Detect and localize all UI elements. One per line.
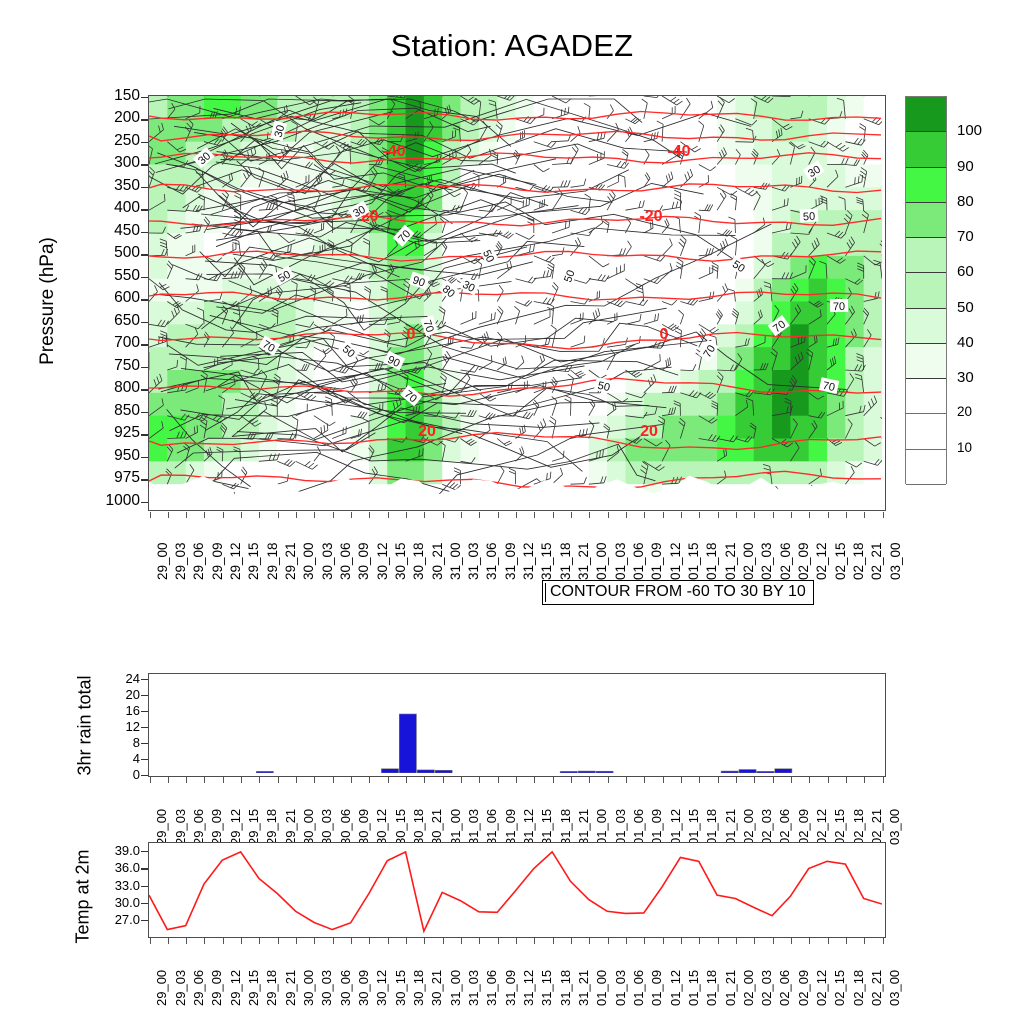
time-tick-mark <box>663 938 664 944</box>
time-tick-mark <box>791 777 792 783</box>
temp-plot-frame <box>148 842 886 938</box>
screenshot-root: Station: AGADEZ Pressure (hPa) 150200250… <box>0 0 1024 1024</box>
colorbar-cell <box>906 97 946 132</box>
time-tick-mark <box>424 938 425 944</box>
time-tick-label: 29_15 <box>246 970 261 1006</box>
pressure-tick-label: 925 <box>70 424 140 442</box>
time-tick-label: 02_00 <box>741 970 756 1006</box>
colorbar-tick-label: 70 <box>957 228 974 245</box>
time-tick-mark <box>754 938 755 944</box>
time-tick-label: 30_18 <box>411 542 426 580</box>
time-tick-label: 01_09 <box>649 970 664 1006</box>
time-tick-mark <box>186 512 187 518</box>
time-tick-mark <box>626 777 627 783</box>
pressure-tick-mark <box>141 479 148 480</box>
time-tick-mark <box>589 512 590 518</box>
time-tick-label: 29_21 <box>283 970 298 1006</box>
pressure-tick-mark <box>141 119 148 120</box>
time-tick-label: 31_03 <box>466 970 481 1006</box>
temp-tick-label: 36.0 <box>85 860 140 875</box>
time-tick-mark <box>498 512 499 518</box>
rain-bar-chart <box>149 674 882 773</box>
rain-tick-label: 24 <box>95 671 140 686</box>
colorbar-cells <box>905 96 947 484</box>
pressure-tick-label: 150 <box>70 87 140 105</box>
time-tick-mark <box>534 938 535 944</box>
time-tick-mark <box>516 512 517 518</box>
temp-contour-label: 0 <box>407 326 416 343</box>
pressure-tick-label: 350 <box>70 177 140 195</box>
temp-contour-label: 20 <box>418 423 436 440</box>
time-tick-label: 02_00 <box>741 542 756 580</box>
pressure-tick-mark <box>141 209 148 210</box>
temp-tick-mark <box>141 886 148 887</box>
time-tick-label: 29_03 <box>173 542 188 580</box>
time-tick-label: 01_00 <box>594 970 609 1006</box>
time-tick-mark <box>186 938 187 944</box>
time-tick-mark <box>424 512 425 518</box>
time-tick-label: 02_15 <box>832 970 847 1006</box>
time-tick-label: 31_12 <box>521 970 536 1006</box>
rain-panel: 3hr rain total 04812162024 29_0029_0329_… <box>0 655 1024 835</box>
time-tick-label: 30_15 <box>393 542 408 580</box>
svg-text:70: 70 <box>833 301 845 313</box>
cross-section-plot: -40-40-20-200020203030303050505050709080… <box>149 96 882 507</box>
time-tick-mark <box>204 777 205 783</box>
temp-contour-label: -40 <box>667 143 690 160</box>
time-tick-mark <box>754 777 755 783</box>
pressure-tick-mark <box>141 322 148 323</box>
time-tick-mark <box>589 938 590 944</box>
time-tick-mark <box>699 777 700 783</box>
time-tick-mark <box>204 512 205 518</box>
colorbar-cell <box>906 450 946 485</box>
rain-bar <box>721 771 738 773</box>
time-tick-label: 02_03 <box>759 970 774 1006</box>
time-tick-mark <box>864 777 865 783</box>
time-tick-mark <box>553 777 554 783</box>
time-tick-mark <box>883 512 884 518</box>
time-tick-mark <box>314 777 315 783</box>
time-tick-mark <box>864 938 865 944</box>
time-tick-mark <box>278 938 279 944</box>
time-tick-mark <box>351 938 352 944</box>
time-tick-mark <box>883 938 884 944</box>
time-tick-label: 31_15 <box>539 970 554 1006</box>
temp-time-tick-labels: 29_0029_0329_0629_0929_1229_1529_1829_21… <box>148 942 884 1002</box>
rain-tick-label: 16 <box>95 703 140 718</box>
time-tick-mark <box>259 938 260 944</box>
pressure-tick-label: 250 <box>70 132 140 150</box>
time-tick-label: 30_06 <box>338 970 353 1006</box>
time-tick-label: 31_09 <box>503 970 518 1006</box>
colorbar-cell <box>906 379 946 414</box>
colorbar-cell <box>906 203 946 238</box>
time-tick-label: 30_00 <box>301 970 316 1006</box>
time-tick-mark <box>388 938 389 944</box>
colorbar-cell <box>906 273 946 308</box>
time-tick-mark <box>828 777 829 783</box>
time-tick-mark <box>168 512 169 518</box>
time-tick-mark <box>736 777 737 783</box>
pressure-tick-mark <box>141 457 148 458</box>
time-tick-mark <box>773 512 774 518</box>
rain-bar <box>775 769 792 773</box>
time-tick-label: 31_06 <box>484 970 499 1006</box>
pressure-tick-label: 975 <box>70 469 140 487</box>
rain-bar <box>596 771 613 773</box>
time-tick-mark <box>296 777 297 783</box>
rain-tick-mark <box>141 759 148 760</box>
time-tick-label: 30_09 <box>356 542 371 580</box>
time-tick-mark <box>626 938 627 944</box>
colorbar-cell <box>906 414 946 449</box>
temp-tick-label: 39.0 <box>85 843 140 858</box>
time-tick-mark <box>791 512 792 518</box>
temp-tick-mark <box>141 903 148 904</box>
svg-text:70: 70 <box>822 380 836 394</box>
humidity-contour-label: 70 <box>830 299 848 313</box>
time-tick-label: 31_18 <box>558 970 573 1006</box>
rain-tick-label: 8 <box>95 735 140 750</box>
time-tick-mark <box>479 777 480 783</box>
time-tick-label: 31_12 <box>521 542 536 580</box>
time-tick-mark <box>736 938 737 944</box>
temp-panel: Temp at 2m 27.030.033.036.039.0 29_0029_… <box>0 826 1024 1016</box>
time-tick-mark <box>608 777 609 783</box>
time-tick-mark <box>663 777 664 783</box>
time-tick-mark <box>608 512 609 518</box>
time-tick-mark <box>516 938 517 944</box>
colorbar-tick-label: 10 <box>957 440 972 455</box>
time-tick-label: 31_18 <box>558 542 573 580</box>
time-tick-label: 31_21 <box>576 970 591 1006</box>
time-tick-mark <box>773 938 774 944</box>
temp-tick-mark <box>141 920 148 921</box>
contour-note: CONTOUR FROM -60 TO 30 BY 10 <box>542 580 814 605</box>
time-tick-mark <box>718 938 719 944</box>
time-tick-label: 31_06 <box>484 542 499 580</box>
time-tick-label: 02_21 <box>869 542 884 580</box>
time-tick-mark <box>351 512 352 518</box>
time-tick-label: 01_00 <box>594 542 609 580</box>
time-tick-mark <box>498 777 499 783</box>
time-tick-label: 29_21 <box>283 542 298 580</box>
time-tick-mark <box>461 777 462 783</box>
time-tick-label: 01_21 <box>723 542 738 580</box>
rain-bar <box>578 771 595 773</box>
pressure-tick-mark <box>141 254 148 255</box>
colorbar-cell <box>906 309 946 344</box>
time-tick-label: 29_18 <box>265 542 280 580</box>
time-tick-mark <box>443 777 444 783</box>
time-tick-mark <box>626 512 627 518</box>
pressure-tick-label: 1000 <box>70 492 140 510</box>
time-tick-mark <box>809 512 810 518</box>
time-tick-label: 29_06 <box>191 970 206 1006</box>
time-tick-mark <box>571 777 572 783</box>
time-tick-label: 03_00 <box>888 542 903 580</box>
time-tick-mark <box>186 777 187 783</box>
time-tick-mark <box>241 938 242 944</box>
time-tick-mark <box>846 512 847 518</box>
time-tick-mark <box>168 777 169 783</box>
time-tick-mark <box>534 512 535 518</box>
time-tick-label: 02_06 <box>777 970 792 1006</box>
rain-bar <box>256 771 273 773</box>
time-tick-mark <box>553 938 554 944</box>
time-tick-label: 02_03 <box>759 542 774 580</box>
rain-plot-frame <box>148 673 886 777</box>
time-tick-label: 30_03 <box>320 542 335 580</box>
time-tick-mark <box>681 512 682 518</box>
time-tick-mark <box>754 512 755 518</box>
time-tick-mark <box>241 777 242 783</box>
time-tick-mark <box>791 938 792 944</box>
time-tick-mark <box>388 777 389 783</box>
time-tick-mark <box>681 777 682 783</box>
time-tick-mark <box>644 938 645 944</box>
temp-contour-label: -20 <box>639 208 662 225</box>
temp-tick-mark <box>141 868 148 869</box>
time-tick-label: 01_18 <box>704 542 719 580</box>
time-tick-mark <box>223 938 224 944</box>
time-tick-label: 30_06 <box>338 542 353 580</box>
pressure-tick-label: 550 <box>70 267 140 285</box>
time-tick-label: 31_00 <box>448 542 463 580</box>
time-tick-mark <box>718 777 719 783</box>
temperature-line-chart <box>149 843 882 934</box>
rain-tick-mark <box>141 775 148 776</box>
time-tick-mark <box>699 938 700 944</box>
pressure-tick-mark <box>141 277 148 278</box>
time-tick-mark <box>718 512 719 518</box>
colorbar-tick-label: 60 <box>957 263 974 280</box>
time-tick-mark <box>333 512 334 518</box>
colorbar-tick-label: 80 <box>957 193 974 210</box>
time-tick-mark <box>516 777 517 783</box>
rain-tick-mark <box>141 743 148 744</box>
time-tick-mark <box>571 512 572 518</box>
pressure-tick-label: 500 <box>70 244 140 262</box>
time-tick-mark <box>259 512 260 518</box>
pressure-tick-mark <box>141 187 148 188</box>
colorbar-cell <box>906 132 946 167</box>
pressure-tick-mark <box>141 232 148 233</box>
temp-tick-mark <box>141 851 148 852</box>
time-tick-mark <box>644 512 645 518</box>
time-tick-label: 29_15 <box>246 542 261 580</box>
pressure-tick-label: 700 <box>70 334 140 352</box>
time-tick-mark <box>809 777 810 783</box>
temp-contour-label: 20 <box>640 423 658 440</box>
time-tick-label: 02_15 <box>833 542 848 580</box>
pressure-tick-label: 400 <box>70 199 140 217</box>
time-tick-mark <box>351 777 352 783</box>
colorbar-tick-label: 20 <box>957 404 972 419</box>
pressure-tick-label: 800 <box>70 379 140 397</box>
time-tick-label: 30_00 <box>301 542 316 580</box>
time-tick-label: 29_03 <box>173 970 188 1006</box>
rain-bar <box>399 714 416 773</box>
time-tick-mark <box>204 938 205 944</box>
time-tick-mark <box>828 938 829 944</box>
time-tick-mark <box>608 938 609 944</box>
time-tick-label: 29_12 <box>228 970 243 1006</box>
rain-bar <box>739 770 756 773</box>
time-tick-label: 02_18 <box>851 970 866 1006</box>
pressure-tick-mark <box>141 299 148 300</box>
pressure-tick-label: 650 <box>70 312 140 330</box>
time-tick-label: 01_18 <box>704 970 719 1006</box>
pressure-axis-label: Pressure (hPa) <box>37 201 59 401</box>
pressure-tick-mark <box>141 97 148 98</box>
time-tick-label: 31_09 <box>503 542 518 580</box>
time-tick-mark <box>846 938 847 944</box>
time-tick-mark <box>534 777 535 783</box>
time-tick-mark <box>644 777 645 783</box>
time-tick-mark <box>846 777 847 783</box>
temp-tick-label: 33.0 <box>85 878 140 893</box>
time-tick-mark <box>314 512 315 518</box>
time-tick-mark <box>150 777 151 783</box>
time-tick-mark <box>406 777 407 783</box>
temp-tick-label: 30.0 <box>85 895 140 910</box>
colorbar-cell <box>906 168 946 203</box>
time-tick-mark <box>681 938 682 944</box>
time-tick-label: 30_18 <box>411 970 426 1006</box>
time-tick-mark <box>443 938 444 944</box>
pressure-tick-mark <box>141 389 148 390</box>
time-tick-mark <box>168 938 169 944</box>
colorbar-tick-label: 50 <box>957 299 974 316</box>
rain-tick-label: 4 <box>95 751 140 766</box>
pressure-tick-mark <box>141 142 148 143</box>
main-time-tick-labels: 29_0029_0329_0629_0929_1229_1529_1829_21… <box>148 516 884 586</box>
time-tick-mark <box>369 512 370 518</box>
time-tick-mark <box>406 938 407 944</box>
time-tick-label: 01_06 <box>631 970 646 1006</box>
time-tick-label: 02_18 <box>851 542 866 580</box>
time-tick-mark <box>828 512 829 518</box>
time-tick-mark <box>150 512 151 518</box>
time-tick-mark <box>571 938 572 944</box>
time-tick-label: 31_00 <box>448 970 463 1006</box>
time-tick-mark <box>699 512 700 518</box>
time-tick-mark <box>296 512 297 518</box>
pressure-tick-mark <box>141 344 148 345</box>
rain-bar <box>560 771 577 773</box>
rain-tick-mark <box>141 727 148 728</box>
time-tick-label: 02_21 <box>869 970 884 1006</box>
time-tick-label: 01_12 <box>668 542 683 580</box>
time-tick-mark <box>553 512 554 518</box>
time-tick-label: 29_09 <box>210 542 225 580</box>
time-tick-label: 29_12 <box>228 542 243 580</box>
time-tick-mark <box>388 512 389 518</box>
time-tick-label: 30_21 <box>429 970 444 1006</box>
time-tick-label: 30_21 <box>430 542 445 580</box>
time-tick-mark <box>223 777 224 783</box>
pressure-tick-mark <box>141 502 148 503</box>
main-cross-section-panel: Pressure (hPa) 1502002503003504004505005… <box>0 0 1024 620</box>
time-tick-label: 03_00 <box>887 970 902 1006</box>
time-tick-mark <box>479 512 480 518</box>
time-tick-mark <box>736 512 737 518</box>
rain-tick-mark <box>141 711 148 712</box>
time-tick-mark <box>461 938 462 944</box>
time-tick-mark <box>333 938 334 944</box>
time-tick-mark <box>443 512 444 518</box>
pressure-tick-mark <box>141 164 148 165</box>
time-tick-label: 30_12 <box>375 542 390 580</box>
time-tick-label: 29_00 <box>155 542 170 580</box>
time-tick-label: 30_09 <box>356 970 371 1006</box>
time-tick-mark <box>314 938 315 944</box>
time-tick-label: 01_09 <box>649 542 664 580</box>
temp-contour-label: -40 <box>382 143 405 160</box>
time-tick-mark <box>223 512 224 518</box>
time-tick-label: 29_06 <box>191 542 206 580</box>
colorbar-cell <box>906 344 946 379</box>
pressure-tick-mark <box>141 434 148 435</box>
colorbar <box>905 96 947 484</box>
time-tick-mark <box>296 938 297 944</box>
rain-bar <box>435 770 452 773</box>
time-tick-label: 02_06 <box>778 542 793 580</box>
rain-bar <box>757 771 774 773</box>
pressure-tick-mark <box>141 412 148 413</box>
pressure-tick-mark <box>141 367 148 368</box>
pressure-tick-label: 950 <box>70 447 140 465</box>
rain-tick-mark <box>141 695 148 696</box>
colorbar-tick-label: 90 <box>957 158 974 175</box>
pressure-tick-label: 200 <box>70 109 140 127</box>
time-tick-mark <box>589 777 590 783</box>
time-tick-mark <box>259 777 260 783</box>
time-tick-label: 01_06 <box>631 542 646 580</box>
time-tick-label: 29_18 <box>264 970 279 1006</box>
time-tick-label: 02_12 <box>814 542 829 580</box>
pressure-tick-label: 450 <box>70 222 140 240</box>
time-tick-mark <box>663 512 664 518</box>
colorbar-tick-label: 100 <box>957 122 982 139</box>
time-tick-label: 29_09 <box>209 970 224 1006</box>
time-tick-mark <box>278 512 279 518</box>
time-tick-label: 01_12 <box>668 970 683 1006</box>
time-tick-label: 31_21 <box>576 542 591 580</box>
temp-contour-label: 0 <box>660 326 669 343</box>
time-tick-mark <box>333 777 334 783</box>
time-tick-mark <box>498 938 499 944</box>
time-tick-label: 01_15 <box>686 542 701 580</box>
time-tick-label: 30_12 <box>374 970 389 1006</box>
time-tick-label: 01_21 <box>723 970 738 1006</box>
rain-tick-mark <box>141 679 148 680</box>
time-tick-label: 02_09 <box>796 970 811 1006</box>
colorbar-tick-label: 30 <box>957 369 974 386</box>
time-tick-label: 29_00 <box>154 970 169 1006</box>
pressure-tick-label: 600 <box>70 289 140 307</box>
time-tick-label: 01_03 <box>613 542 628 580</box>
time-tick-mark <box>809 938 810 944</box>
time-tick-mark <box>461 512 462 518</box>
rain-bar <box>417 770 434 773</box>
time-tick-label: 30_15 <box>393 970 408 1006</box>
time-tick-label: 02_09 <box>796 542 811 580</box>
time-tick-label: 31_15 <box>539 542 554 580</box>
rain-bar <box>381 769 398 773</box>
